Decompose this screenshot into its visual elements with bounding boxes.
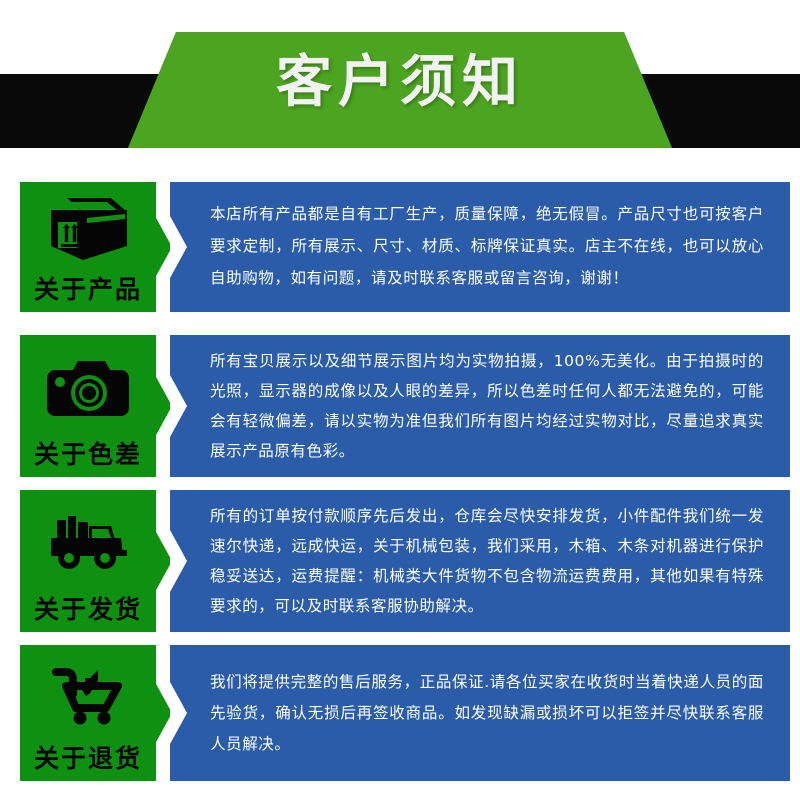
section-text-return: 我们将提供完整的售后服务，正品保证.请各位买家在收货时当着快递人员的面先验货，确… <box>170 667 790 760</box>
section-row-product: 关于产品 本店所有产品都是自有工厂生产，质量保障，绝无假冒。产品尺寸也可按客户要… <box>0 182 800 312</box>
icon-label-return: 关于退货 <box>34 746 142 775</box>
return-cart-icon <box>20 645 156 746</box>
icon-label-shipping: 关于发货 <box>34 597 142 626</box>
camera-icon <box>20 335 156 442</box>
delivery-truck-icon <box>20 490 156 597</box>
section-text-shipping: 所有的订单按付款顺序先后发出，仓库会尽快安排发货，小件配件我们统一发速尔快递，远… <box>170 501 790 622</box>
cardboard-box-icon <box>20 182 156 277</box>
icon-box-product: 关于产品 <box>20 182 156 312</box>
text-panel-color: 所有宝贝展示以及细节展示图片均为实物拍摄，100%无美化。由于拍摄时的光照，显示… <box>170 335 790 477</box>
customer-notice-page: 客户须知 <box>0 0 800 800</box>
text-panel-return: 我们将提供完整的售后服务，正品保证.请各位买家在收货时当着快递人员的面先验货，确… <box>170 645 790 781</box>
text-panel-product: 本店所有产品都是自有工厂生产，质量保障，绝无假冒。产品尺寸也可按客户要求定制，所… <box>170 182 790 312</box>
section-text-color: 所有宝贝展示以及细节展示图片均为实物拍摄，100%无美化。由于拍摄时的光照，显示… <box>170 346 790 467</box>
section-row-shipping: 关于发货 所有的订单按付款顺序先后发出，仓库会尽快安排发货，小件配件我们统一发速… <box>0 490 800 632</box>
section-text-product: 本店所有产品都是自有工厂生产，质量保障，绝无假冒。产品尺寸也可按客户要求定制，所… <box>170 199 790 294</box>
section-row-return: 关于退货 我们将提供完整的售后服务，正品保证.请各位买家在收货时当着快递人员的面… <box>0 645 800 781</box>
icon-box-color: 关于色差 <box>20 335 156 477</box>
icon-label-product: 关于产品 <box>34 277 142 306</box>
icon-label-color: 关于色差 <box>34 442 142 471</box>
header-banner-area: 客户须知 <box>0 0 800 160</box>
icon-box-shipping: 关于发货 <box>20 490 156 632</box>
section-row-color: 关于色差 所有宝贝展示以及细节展示图片均为实物拍摄，100%无美化。由于拍摄时的… <box>0 335 800 477</box>
icon-box-return: 关于退货 <box>20 645 156 781</box>
page-title: 客户须知 <box>0 0 800 148</box>
text-panel-shipping: 所有的订单按付款顺序先后发出，仓库会尽快安排发货，小件配件我们统一发速尔快递，远… <box>170 490 790 632</box>
